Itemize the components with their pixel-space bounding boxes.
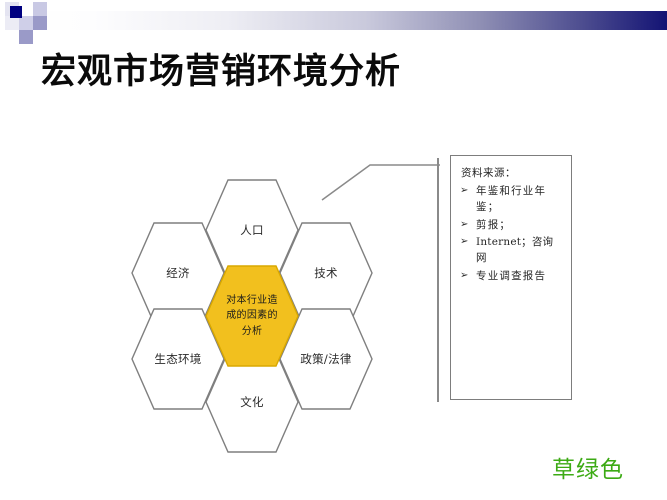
color-note-label: 草绿色 [552, 450, 624, 484]
bullet-arrow-icon: ➢ [460, 235, 476, 250]
callout-connector-line [320, 148, 450, 208]
decorative-squares [5, 2, 61, 44]
hexagon-cluster-diagram: 经济 人口 技术 生态环境 政策/法律 文化 [112, 178, 412, 403]
top-gradient-bar [0, 11, 667, 30]
bullet-arrow-icon: ➢ [460, 218, 476, 233]
source-item-text: 年鉴和行业年鉴； [476, 184, 563, 216]
source-list-item: ➢ Internet；咨询网 [460, 235, 563, 267]
source-item-text: Internet；咨询网 [476, 235, 563, 267]
source-list-item: ➢ 专业调查报告 [460, 269, 563, 285]
decorative-square [19, 30, 33, 44]
hex-cell-center-focus[interactable]: 对本行业造 成的因素的 分析 [204, 264, 300, 368]
source-box-title: 资料来源： [461, 165, 563, 180]
decorative-square [5, 16, 19, 30]
bullet-arrow-icon: ➢ [460, 269, 476, 284]
source-box: 资料来源： ➢ 年鉴和行业年鉴； ➢ 剪报； ➢ Internet；咨询网 ➢ … [450, 155, 572, 400]
decorative-square [33, 2, 47, 16]
source-list-item: ➢ 剪报； [460, 218, 563, 234]
source-list-item: ➢ 年鉴和行业年鉴； [460, 184, 563, 216]
source-item-text: 专业调查报告 [476, 269, 546, 285]
decorative-square [10, 6, 22, 18]
source-item-text: 剪报； [476, 218, 511, 234]
decorative-square [33, 16, 47, 30]
decorative-square [19, 16, 33, 30]
source-box-bracket [437, 158, 439, 402]
bullet-arrow-icon: ➢ [460, 184, 476, 199]
hex-label-center-focus: 对本行业造 成的因素的 分析 [204, 264, 300, 368]
page-title: 宏观市场营销环境分析 [41, 43, 401, 94]
